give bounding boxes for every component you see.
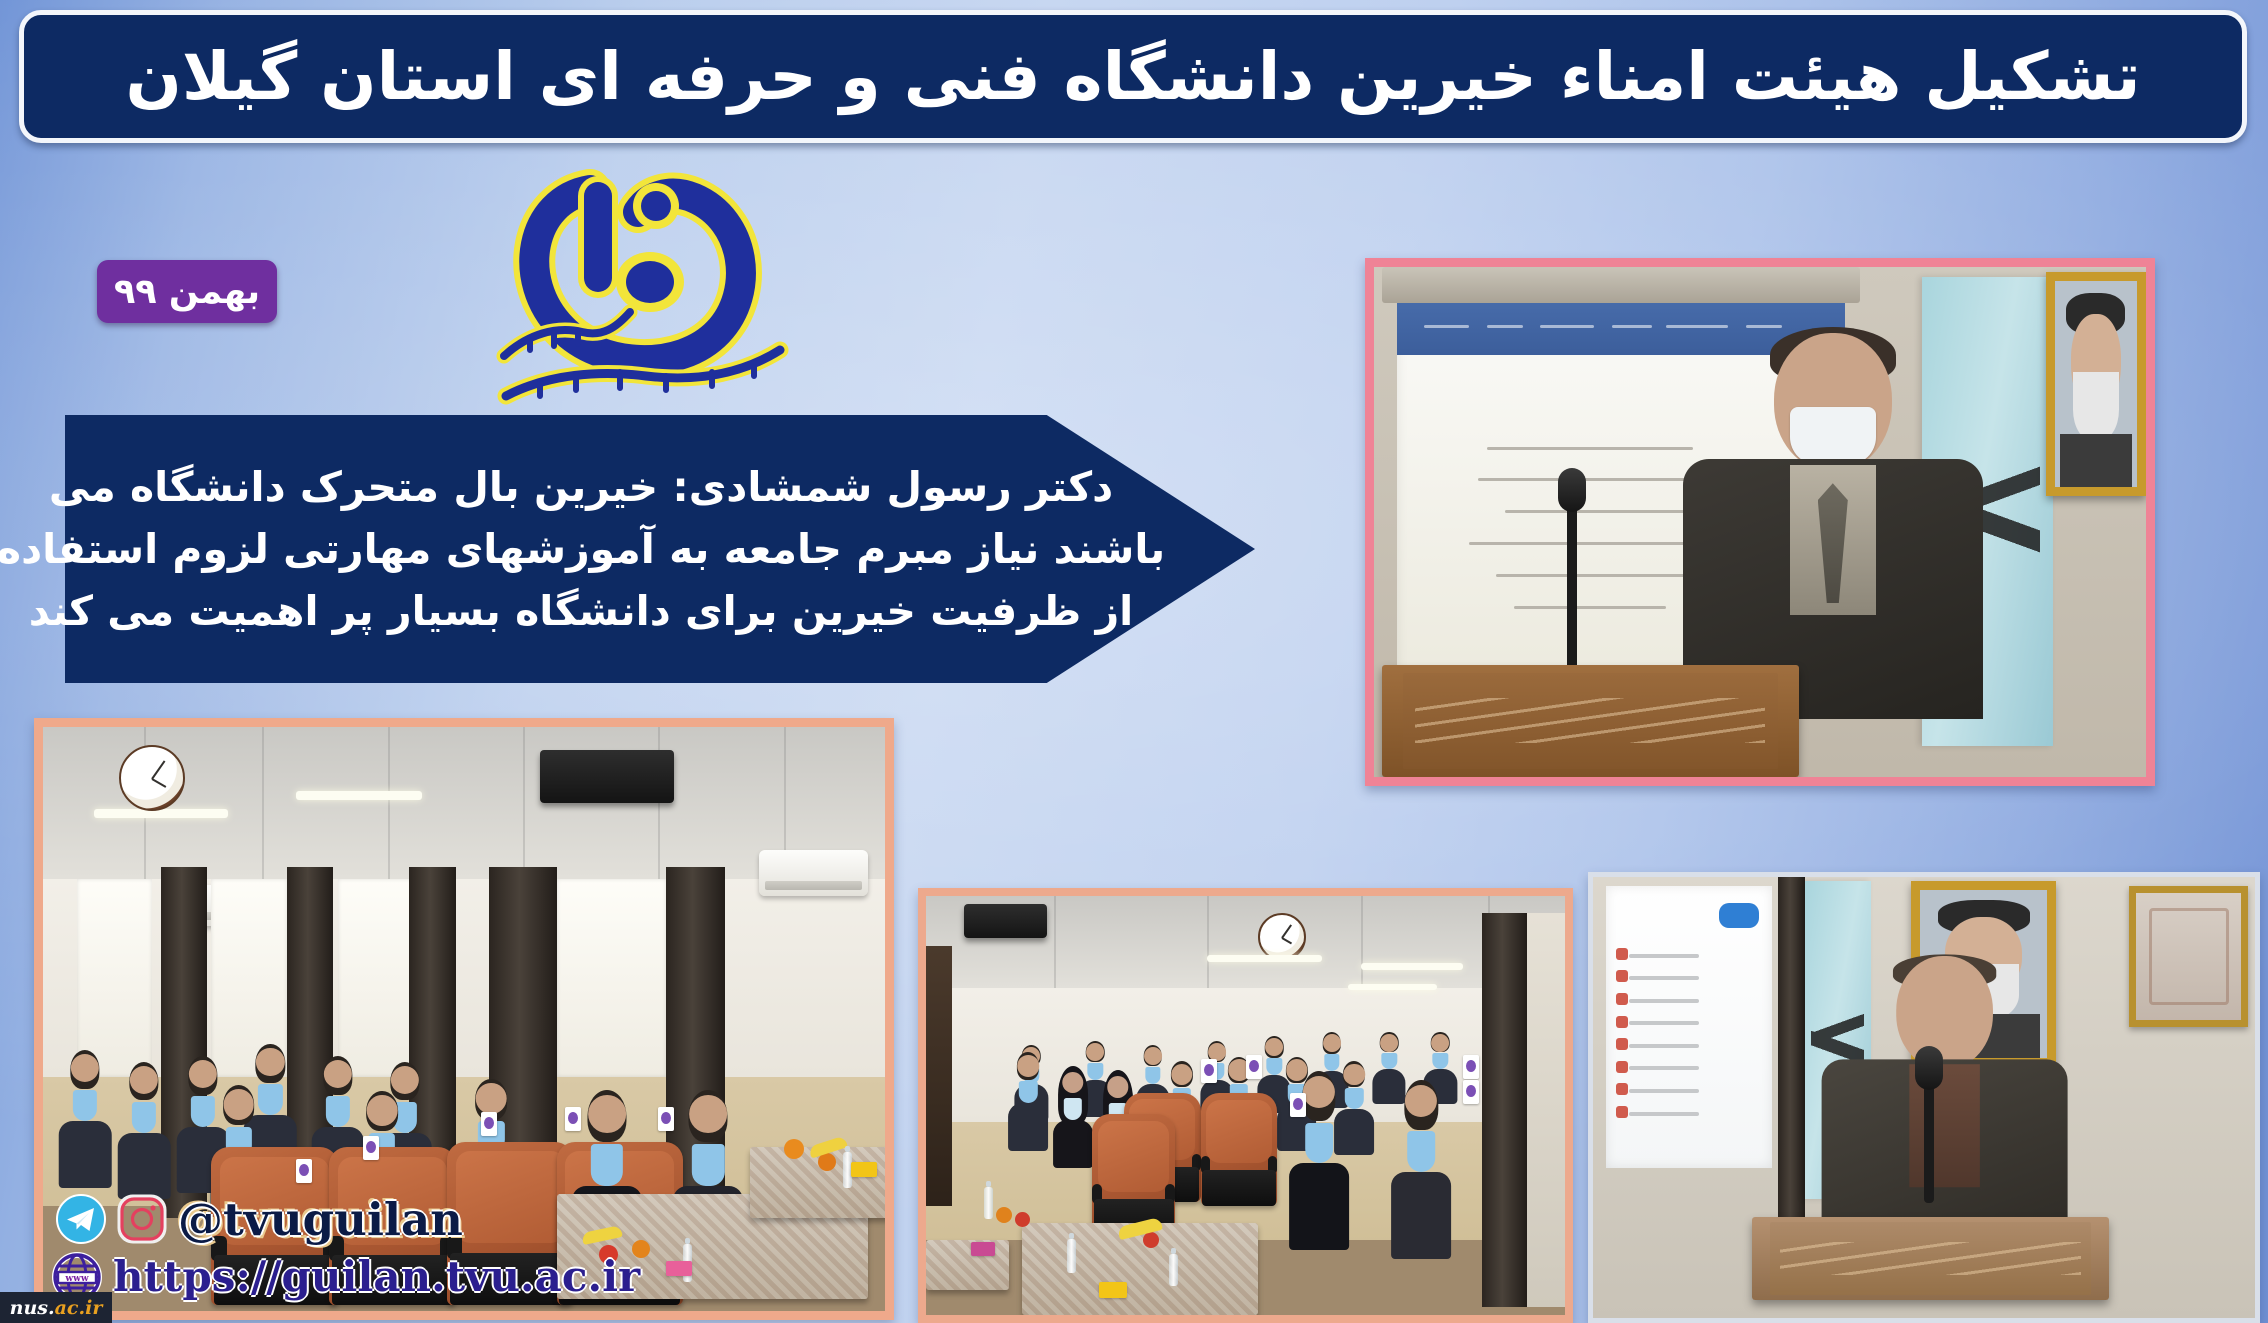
portrait-beard — [2073, 372, 2119, 442]
svg-text:www: www — [64, 1274, 88, 1284]
refreshment-table — [926, 1240, 1009, 1290]
speaker-head — [1896, 956, 1993, 1069]
microphone — [1567, 502, 1577, 686]
wall-rug — [2129, 886, 2248, 1027]
curtain — [1778, 877, 1804, 1239]
header-banner: تشکیل هیئت امناء خیرین دانشگاه فنی و حرف… — [19, 10, 2247, 143]
social-handle[interactable]: @tvuguilan — [178, 1197, 463, 1242]
sheer-curtain — [1527, 913, 1565, 1307]
podium — [1382, 665, 1799, 777]
photo-audience — [918, 888, 1573, 1323]
ceiling-lamp — [1207, 955, 1322, 962]
attendee-front — [1392, 1085, 1450, 1253]
page-title: تشکیل هیئت امناء خیرین دانشگاه فنی و حرف… — [96, 41, 2171, 112]
podium-calligraphy — [1415, 698, 1765, 743]
source-watermark: nus.ac.ir — [0, 1292, 112, 1323]
door — [926, 946, 952, 1206]
fruit-orange — [784, 1139, 804, 1159]
fruit-orange — [996, 1207, 1012, 1223]
video-projector — [540, 750, 675, 803]
water-bottle — [1067, 1239, 1076, 1273]
tvu-guilan-logo: استان گیلان — [470, 160, 810, 410]
theatre-seat — [1092, 1114, 1175, 1240]
quote-line-1: دکتر رسول شمشادی: خیرین بال متحرک دانشگا… — [49, 456, 1113, 518]
photo-speaker2-scene — [1593, 877, 2255, 1318]
photo-audience-scene — [926, 896, 1565, 1315]
watermark-suffix: ac.ir — [55, 1297, 103, 1319]
framed-portrait — [2046, 272, 2146, 496]
sign-in-button[interactable] — [1719, 903, 1759, 928]
podium — [1752, 1217, 2109, 1301]
tissue-box — [971, 1242, 995, 1256]
wall-clock — [119, 745, 185, 811]
projection-screen-acrobat — [1606, 886, 1772, 1168]
attendee — [1009, 1055, 1047, 1147]
tissue-box — [666, 1261, 692, 1276]
screen-roller — [1382, 267, 1861, 303]
speaker-figure — [1838, 956, 2051, 1251]
water-bottle — [984, 1187, 993, 1219]
ceiling-lamp — [94, 809, 229, 818]
quote-line-3: از ظرفیت خیرین برای دانشگاه بسیار پر اهم… — [29, 580, 1133, 642]
quote-banner: دکتر رسول شمشادی: خیرین بال متحرک دانشگا… — [65, 415, 1255, 683]
attendee-chador — [1054, 1072, 1092, 1164]
telegram-icon[interactable] — [56, 1194, 106, 1244]
date-badge-label: بهمن ۹۹ — [114, 272, 260, 312]
ceiling-lamp — [1361, 963, 1463, 970]
attendee — [60, 1054, 111, 1182]
photo-speaker-podium-second — [1588, 872, 2260, 1323]
watermark-prefix: nus. — [10, 1297, 55, 1319]
portrait-robe — [2060, 434, 2132, 488]
date-badge: بهمن ۹۹ — [97, 260, 277, 323]
quote-line-2: باشند نیاز مبرم جامعه به آموزشهای مهارتی… — [0, 518, 1165, 580]
ceiling-lamp — [1348, 984, 1437, 990]
social-handle-row: @tvuguilan — [56, 1194, 463, 1244]
podium-calligraphy — [1780, 1242, 2080, 1276]
refreshment-table — [1022, 1223, 1258, 1315]
website-row: www https://guilan.tvu.ac.ir — [52, 1252, 640, 1302]
theatre-seat — [1201, 1093, 1278, 1206]
microphone — [1924, 1080, 1934, 1203]
website-url[interactable]: https://guilan.tvu.ac.ir — [113, 1256, 640, 1298]
tissue-box — [1099, 1282, 1127, 1298]
water-bottle — [1169, 1254, 1178, 1286]
attendee — [119, 1066, 170, 1194]
instagram-icon[interactable] — [117, 1194, 167, 1244]
speaker-face-mask — [1790, 407, 1876, 465]
wall-clock — [1258, 913, 1306, 961]
tissue-box — [851, 1162, 877, 1177]
photo-main-scene — [1374, 267, 2146, 777]
curtain — [1482, 913, 1527, 1307]
quote-text: دکتر رسول شمشادی: خیرین بال متحرک دانشگا… — [87, 437, 1075, 661]
video-projector — [964, 904, 1047, 938]
air-conditioner — [759, 850, 868, 897]
ceiling-lamp — [296, 791, 422, 800]
photo-speaker-podium-main — [1365, 258, 2155, 786]
